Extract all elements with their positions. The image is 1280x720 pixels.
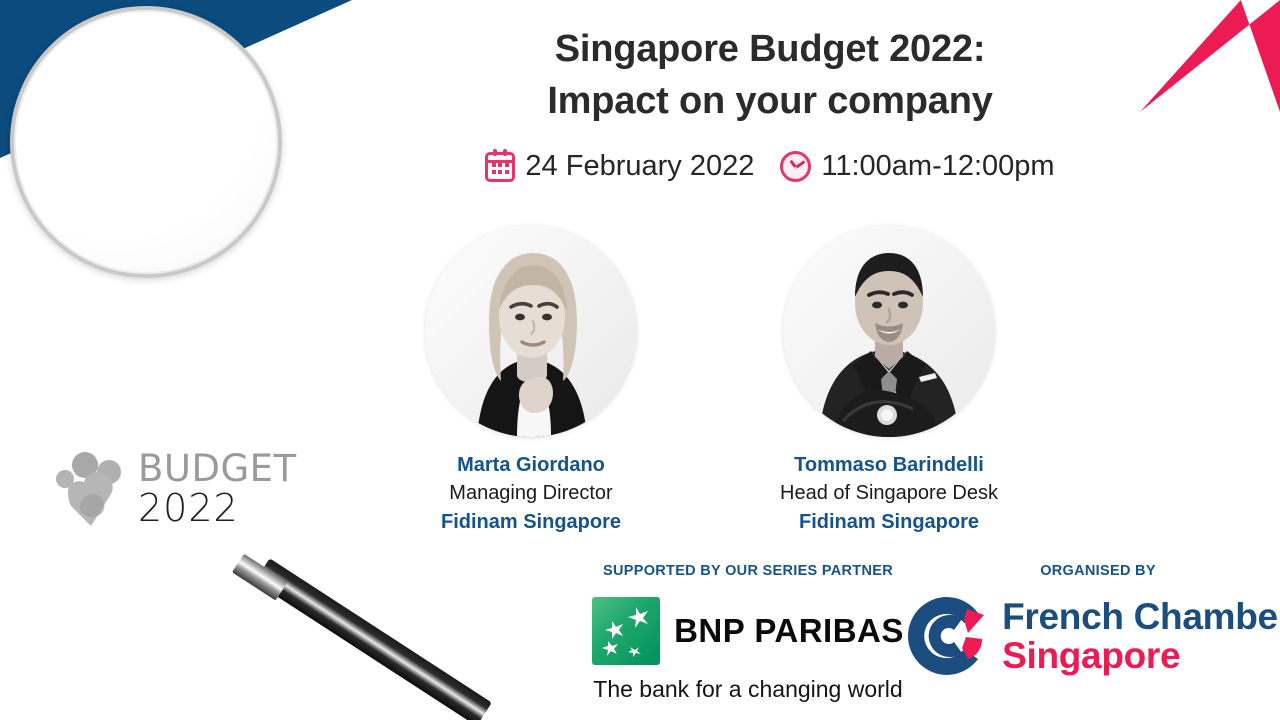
calendar-icon (485, 152, 515, 182)
calendar-icon-dots (492, 163, 509, 174)
event-time-text: 11:00am-12:00pm (821, 150, 1054, 183)
clock-minute-hand (795, 160, 805, 168)
page-title: Singapore Budget 2022: Impact on your co… (340, 24, 1200, 127)
bnp-logo-row: BNP PARIBAS (592, 597, 904, 665)
event-datetime: 24 February 2022 11:00am-12:00pm (340, 150, 1200, 183)
event-poster: Singapore Budget 2022: Impact on your co… (0, 0, 1280, 720)
organised-by-label: ORGANISED BY (1040, 563, 1156, 579)
speaker-name: Tommaso Barindelli (758, 451, 1020, 479)
budget-logo: BUDGET 2022 (54, 448, 294, 528)
bnp-stars-icon (592, 597, 660, 665)
clock-icon (780, 151, 811, 182)
avatar (783, 225, 995, 437)
budget-wordmark: BUDGET 2022 (138, 450, 297, 527)
event-date: 24 February 2022 (485, 150, 754, 183)
calendar-icon-bar (488, 160, 512, 163)
bnp-wordmark: BNP PARIBAS (674, 612, 904, 650)
family-heart-icon (54, 448, 128, 528)
title-line-2: Impact on your company (340, 76, 1200, 128)
french-chamber-line2: Singapore (1002, 637, 1280, 674)
supported-by-section: SUPPORTED BY OUR SERIES PARTNER BNP PARI… (546, 563, 950, 703)
budget-word: BUDGET (138, 450, 297, 487)
organised-by-section: ORGANISED BY French Chamber Singapore (920, 563, 1276, 679)
portrait-tommaso-barindelli (783, 225, 995, 437)
event-time: 11:00am-12:00pm (780, 150, 1054, 183)
magnifier-lens (10, 6, 282, 278)
bnp-paribas-logo[interactable]: BNP PARIBAS The bank for a changing worl… (592, 597, 904, 703)
magnifying-glass-icon (34, 368, 534, 720)
ccfs-ring-icon (904, 593, 990, 679)
speaker-card: Tommaso Barindelli Head of Singapore Des… (758, 225, 1020, 536)
title-line-1: Singapore Budget 2022: (340, 24, 1200, 76)
french-chamber-wordmark: French Chamber Singapore (1002, 598, 1280, 674)
bnp-tagline: The bank for a changing world (593, 676, 902, 703)
budget-year: 2022 (138, 489, 297, 527)
speaker-role: Head of Singapore Desk (758, 479, 1020, 507)
french-chamber-line1: French Chamber (1002, 598, 1280, 635)
event-date-text: 24 February 2022 (525, 150, 754, 183)
speaker-organisation: Fidinam Singapore (758, 508, 1020, 536)
supported-by-label: SUPPORTED BY OUR SERIES PARTNER (603, 563, 893, 579)
french-chamber-singapore-logo[interactable]: French Chamber Singapore (904, 593, 1280, 679)
